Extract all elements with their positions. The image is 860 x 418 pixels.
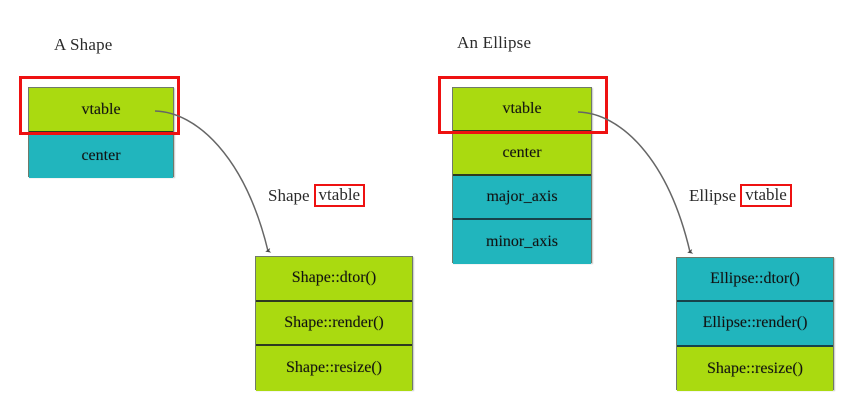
ellipse-vtable-entry-dtor: Ellipse::dtor(): [677, 258, 833, 302]
shape-vtable-entry-render: Shape::render(): [256, 302, 412, 347]
shape-vtable-caption-prefix: Shape: [268, 187, 310, 204]
shape-object-box: vtable center: [28, 87, 174, 177]
shape-vtable-box: Shape::dtor() Shape::render() Shape::res…: [255, 256, 413, 390]
shape-object-title: A Shape: [54, 36, 113, 53]
ellipse-vtable-caption: Ellipse vtable: [689, 184, 792, 207]
ellipse-vtable-entry-render: Ellipse::render(): [677, 302, 833, 346]
shape-vtable-caption-keyword: vtable: [314, 184, 366, 207]
shape-object-row-vtable: vtable: [29, 88, 173, 133]
ellipse-vtable-caption-prefix: Ellipse: [689, 187, 736, 204]
ellipse-vtable-box: Ellipse::dtor() Ellipse::render() Shape:…: [676, 257, 834, 390]
shape-object-row-center: center: [29, 133, 173, 178]
vtable-diagram: A Shape An Ellipse vtable center vtable …: [0, 0, 860, 418]
shape-vtable-entry-dtor: Shape::dtor(): [256, 257, 412, 302]
ellipse-object-row-vtable: vtable: [453, 88, 591, 132]
ellipse-object-row-center: center: [453, 132, 591, 176]
ellipse-object-row-major-axis: major_axis: [453, 176, 591, 220]
ellipse-vtable-pointer-arrow: [578, 112, 690, 252]
ellipse-object-title: An Ellipse: [457, 34, 531, 51]
ellipse-vtable-caption-keyword: vtable: [740, 184, 792, 207]
ellipse-object-box: vtable center major_axis minor_axis: [452, 87, 592, 263]
shape-vtable-caption: Shape vtable: [268, 184, 365, 207]
ellipse-object-row-minor-axis: minor_axis: [453, 220, 591, 264]
ellipse-vtable-entry-resize: Shape::resize(): [677, 347, 833, 391]
shape-vtable-entry-resize: Shape::resize(): [256, 346, 412, 391]
